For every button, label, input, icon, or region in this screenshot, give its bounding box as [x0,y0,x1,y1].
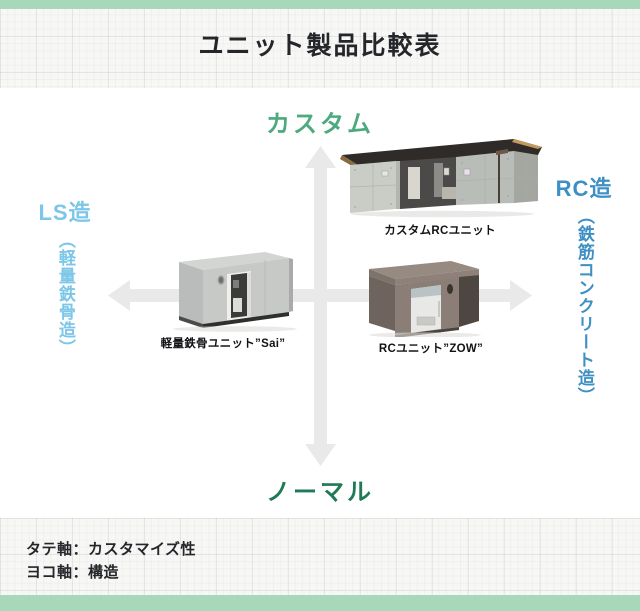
axis-label-rc-main: RC造 [556,171,613,203]
axis-label-ls-structure: LS造 （軽量鉄骨造） [17,195,113,357]
axis-label-custom: カスタム [0,104,640,139]
axis-label-ls-main: LS造 [38,195,91,227]
axis-label-normal: ノーマル [0,472,640,507]
product-caption-custom-rc-unit: カスタムRCユニット [338,222,542,238]
product-photo-zow-unit [355,251,507,337]
comparison-chart-canvas: カスタム ノーマル LS造 （軽量鉄骨造） RC造 （鉄筋コンクリート造） [0,88,640,518]
product-photo-sai-unit [143,246,303,332]
footer-note-horizontal-axis: ヨコ軸：構造 [26,561,196,584]
axis-label-rc-structure: RC造 （鉄筋コンクリート造） [536,171,632,405]
footer-note-vertical-axis: タテ軸：カスタマイズ性 [26,538,196,561]
page-title: ユニット製品比較表 [0,26,640,62]
product-sai-unit: 軽量鉄骨ユニット”Sai” [143,246,303,351]
page-header: ユニット製品比較表 [0,0,640,88]
product-custom-rc-unit: カスタムRCユニット [338,135,542,238]
bottom-accent-bar [0,595,640,611]
axis-label-ls-sub: （軽量鉄骨造） [56,231,74,357]
axis-legend-notes: タテ軸：カスタマイズ性 ヨコ軸：構造 [26,538,196,585]
product-caption-sai-unit: 軽量鉄骨ユニット”Sai” [143,335,303,351]
product-photo-custom-rc-unit [338,135,542,219]
product-caption-zow-unit: RCユニット”ZOW” [355,340,507,356]
product-zow-unit: RCユニット”ZOW” [355,251,507,356]
page-footer: タテ軸：カスタマイズ性 ヨコ軸：構造 [0,518,640,611]
top-accent-bar [0,0,640,9]
axis-label-rc-sub: （鉄筋コンクリート造） [575,207,593,405]
